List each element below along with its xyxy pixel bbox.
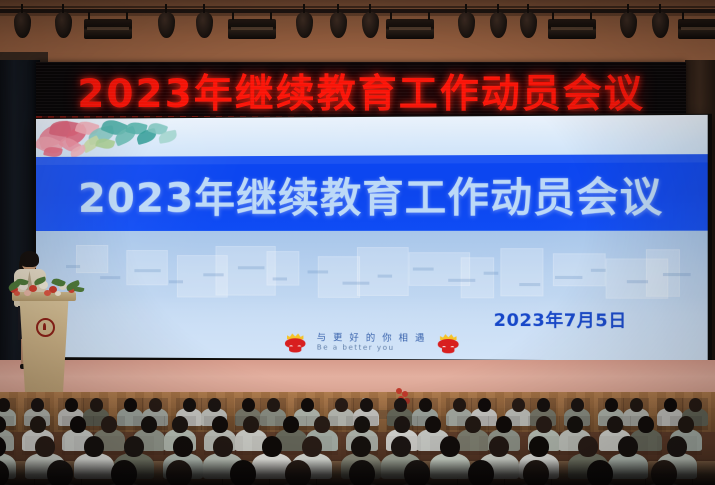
- speaker-hair: [20, 251, 39, 267]
- flower-bloom: [44, 290, 51, 296]
- floral-petal: [95, 136, 115, 151]
- building-block: [357, 247, 409, 296]
- building-window-row: [66, 265, 80, 268]
- flower-bloom: [55, 291, 61, 296]
- spotlight-fixture: [652, 12, 669, 38]
- flower-bloom: [24, 290, 31, 296]
- logo-slogan-en: Be a better you: [317, 344, 427, 352]
- led-banner-text: 2023年继续教育工作动员会议: [36, 63, 686, 119]
- floral-decoration: [36, 118, 187, 161]
- mascot-body: [289, 346, 301, 352]
- spotlight-fixture: [55, 12, 72, 38]
- light-bar-fixture: [548, 19, 596, 39]
- light-bar-glow: [681, 27, 715, 30]
- audience: [0, 392, 715, 485]
- mascot-body: [442, 347, 454, 353]
- building-window-row: [343, 282, 370, 285]
- spotlight-fixture: [520, 12, 537, 38]
- podium-flowers: [8, 278, 84, 300]
- spotlight-fixture: [490, 12, 507, 38]
- building-window-row: [169, 280, 183, 283]
- light-bar-fixture: [84, 19, 132, 39]
- building-window-row: [413, 267, 434, 270]
- spotlight-fixture: [14, 12, 31, 38]
- flower-leaf: [74, 286, 85, 293]
- building-window-row: [448, 279, 475, 282]
- slide-date: 2023年7月5日: [494, 305, 627, 331]
- building-window-row: [308, 270, 329, 273]
- building-window-row: [378, 275, 392, 278]
- building-window-row: [555, 276, 582, 279]
- lighting-truss: [0, 9, 715, 13]
- conference-hall-photo: 2023年继续教育工作动员会议 2023年继续教育工作动员会议 2023年7月5…: [0, 0, 715, 485]
- spotlight-fixture: [458, 12, 475, 38]
- mascot-icon-left: [284, 333, 307, 352]
- spotlight-fixture: [330, 12, 347, 38]
- building-window-row: [663, 273, 691, 276]
- building-window-row: [238, 266, 265, 269]
- light-bar-glow: [389, 27, 431, 30]
- podium: [16, 296, 72, 392]
- building-window-row: [591, 269, 606, 272]
- spotlight-fixture: [196, 12, 213, 38]
- building-window-row: [273, 277, 287, 280]
- podium-crest-icon: [36, 318, 55, 337]
- building-block: [76, 245, 108, 273]
- light-bar-fixture: [228, 19, 276, 39]
- projection-screen-frame: 2023年继续教育工作动员会议 2023年7月5日 与 更 好 的 你 相 遇: [34, 114, 712, 368]
- spotlight-fixture: [158, 12, 175, 38]
- building-block: [318, 256, 360, 298]
- ceiling: [0, 0, 715, 64]
- building-window-row: [484, 272, 499, 275]
- building-block: [500, 248, 543, 296]
- slide-logo-lockup: 与 更 好 的 你 相 遇 Be a better you: [284, 333, 460, 353]
- building-window-row: [134, 269, 160, 272]
- spotlight-fixture: [296, 12, 313, 38]
- led-banner: 2023年继续教育工作动员会议: [36, 62, 686, 119]
- mascot-icon-right: [437, 334, 460, 354]
- light-bar-glow: [87, 27, 129, 30]
- building-window-row: [627, 280, 648, 283]
- light-bar-fixture: [386, 19, 434, 39]
- building-window-row: [519, 283, 540, 286]
- building-window-row: [100, 276, 120, 279]
- projection-screen: 2023年继续教育工作动员会议 2023年7月5日 与 更 好 的 你 相 遇: [36, 115, 708, 361]
- slide-title: 2023年继续教育工作动员会议: [36, 156, 708, 231]
- flower-bloom: [14, 291, 20, 296]
- building-block: [126, 250, 167, 285]
- logo-slogan: 与 更 好 的 你 相 遇 Be a better you: [317, 334, 427, 352]
- light-bar-glow: [551, 27, 593, 30]
- building-window-row: [203, 273, 223, 276]
- spotlight-fixture: [362, 12, 379, 38]
- light-bar-fixture: [678, 19, 715, 39]
- light-bar-glow: [231, 27, 273, 30]
- spotlight-fixture: [620, 12, 637, 38]
- foreground-shadow: [0, 459, 715, 485]
